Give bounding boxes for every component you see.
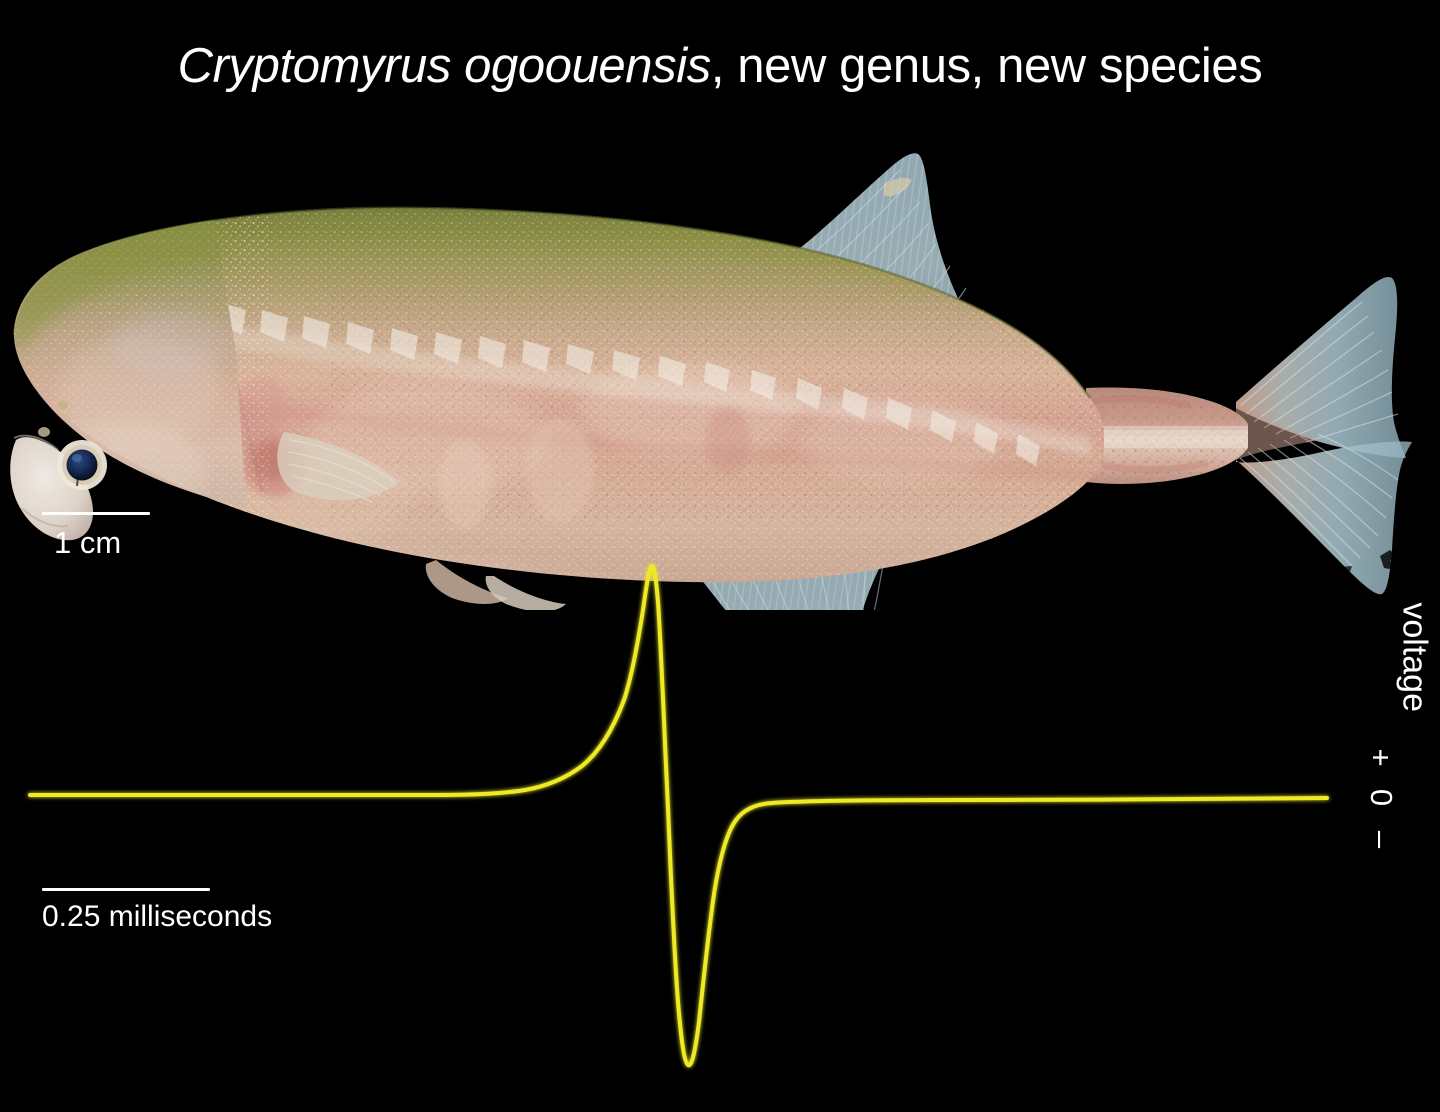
eye	[57, 440, 107, 490]
voltage-tick-zero: 0	[1366, 789, 1397, 806]
time-scale-bar-line	[42, 888, 210, 891]
eod-trace-line	[30, 566, 1327, 1065]
length-scale-bar-line	[42, 512, 150, 515]
scientific-name: Cryptomyrus ogoouensis	[178, 39, 711, 93]
voltage-tick-positive: +	[1365, 748, 1396, 766]
voltage-axis: voltage + 0 –	[1364, 712, 1434, 882]
figure-root: Cryptomyrus ogoouensis, new genus, new s…	[0, 0, 1440, 1112]
title-suffix: , new genus, new species	[711, 39, 1263, 93]
eod-waveform-panel	[0, 540, 1440, 1112]
eod-waveform-svg	[0, 540, 1440, 1112]
figure-title: Cryptomyrus ogoouensis, new genus, new s…	[0, 40, 1440, 94]
voltage-tick-negative: –	[1366, 831, 1397, 848]
time-scale-bar-label: 0.25 milliseconds	[42, 902, 272, 932]
voltage-axis-title: voltage	[1398, 602, 1432, 712]
time-scale-bar: 0.25 milliseconds	[42, 888, 272, 932]
